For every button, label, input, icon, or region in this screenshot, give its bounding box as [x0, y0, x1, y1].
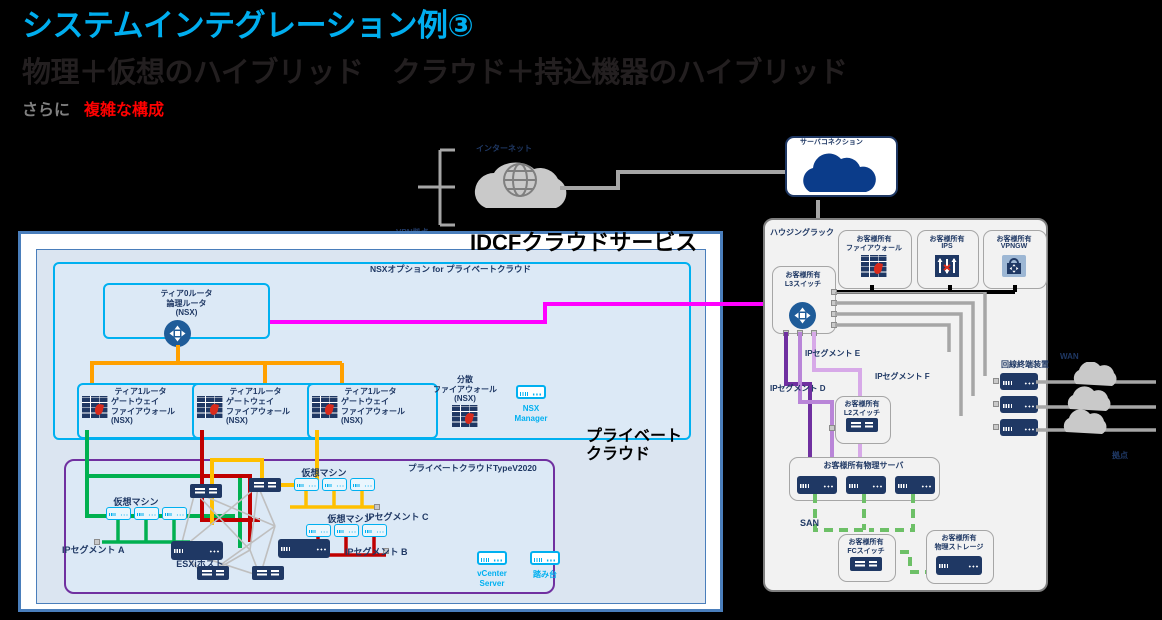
- vm-icon-c1: [294, 478, 319, 491]
- customer-l3switch-line2: L3スイッチ: [772, 279, 834, 289]
- esxi-host-icon-2: [278, 539, 330, 558]
- virtual-switch-icon-1: [190, 484, 222, 498]
- customer-vpngw-line2: VPNGW: [983, 243, 1045, 250]
- diagram-canvas: システムインテグレーション例③ 物理＋仮想のハイブリッド クラウド＋持込機器のハ…: [0, 0, 1162, 620]
- server-connection-cloud-icon: [800, 148, 884, 196]
- san-label: SAN: [800, 518, 850, 528]
- dsu-port-2: [993, 401, 999, 407]
- site-label: 拠点: [1112, 450, 1152, 461]
- esxi-host-label: ESXiホスト: [160, 557, 240, 570]
- bastion-server-icon: [530, 551, 560, 565]
- note-prefix: さらに: [22, 102, 70, 120]
- vcenter-server-icon: [477, 551, 507, 565]
- segment-label-a: IPセグメント A: [62, 543, 152, 556]
- dsu-icon-1: [1000, 373, 1038, 390]
- vm-icon-a3: [162, 507, 187, 520]
- customer-firewall-icon: [861, 255, 887, 277]
- vm-icon-a1: [106, 507, 131, 520]
- customer-fcswitch-line2: FCスイッチ: [838, 546, 894, 556]
- virtual-switch-icon-4: [252, 566, 284, 580]
- nsx-manager-line1: NSX: [496, 404, 566, 413]
- vm-icon-b2: [334, 524, 359, 537]
- virtual-switch-icon-2: [249, 478, 281, 492]
- dsu-port-3: [993, 424, 999, 430]
- customer-vpngw-icon: [1002, 255, 1026, 277]
- customer-ips-icon: [935, 255, 959, 277]
- tier0-product: (NSX): [103, 308, 270, 317]
- tier1-label3-2: (NSX): [226, 416, 316, 425]
- wan-label: WAN: [1060, 352, 1110, 361]
- customer-physical-servers-label: お客様所有物理サーバ: [789, 460, 938, 471]
- note-emphasis: 複雑な構成: [84, 102, 164, 120]
- internet-cloud-icon: [475, 163, 566, 208]
- tier1-label3-1: (NSX): [111, 416, 201, 425]
- tier0-to-l3switch-link: [180, 290, 790, 340]
- page-title: システムインテグレーション例③: [22, 8, 473, 44]
- nsx-manager-line2: Manager: [496, 414, 566, 423]
- l2-port: [829, 425, 835, 431]
- segment-label-e: IPセグメント E: [805, 348, 905, 359]
- vcenter-line2: Server: [457, 579, 527, 588]
- vm-icon-c3: [350, 478, 375, 491]
- customer-firewall-line2: ファイアウォール: [838, 243, 910, 253]
- internet-label: インターネット: [476, 144, 532, 153]
- vm-icon-c2: [322, 478, 347, 491]
- dsu-icon-2: [1000, 396, 1038, 413]
- distributed-fw-line3: (NSX): [425, 394, 505, 403]
- housing-rack-label: ハウジングラック: [770, 228, 834, 237]
- dsu-port-1: [993, 378, 999, 384]
- idcf-title: IDCFクラウドサービス: [470, 230, 697, 255]
- customer-l2switch-line2: L2スイッチ: [835, 408, 889, 418]
- private-cloud-side-label: プライベートクラウド: [586, 428, 682, 465]
- nsx-option-label: NSXオプション for プライベートクラウド: [370, 265, 531, 275]
- customer-storage-icon: [936, 556, 982, 575]
- vm-icon-b3: [362, 524, 387, 537]
- customer-ips-line2: IPS: [917, 243, 977, 250]
- tier0-router-icon: [164, 320, 191, 347]
- customer-l3switch-icon: [789, 302, 816, 329]
- tier1-firewall-icon-1: [82, 396, 108, 418]
- customer-fcswitch-icon: [850, 557, 882, 571]
- bastion-line1: 踏み台: [510, 569, 580, 580]
- segment-label-f: IPセグメント F: [875, 371, 975, 382]
- vm-icon-b1: [306, 524, 331, 537]
- dsu-icon-3: [1000, 419, 1038, 436]
- segment-label-d: IPセグメント D: [770, 383, 870, 394]
- segment-label-b: IPセグメント B: [345, 545, 435, 558]
- server-connection-label: サーバコネクション: [800, 139, 863, 147]
- vm-icon-a2: [134, 507, 159, 520]
- wan-clouds-graphic: [1036, 362, 1162, 452]
- page-subtitle: 物理＋仮想のハイブリッド クラウド＋持込機器のハイブリッド: [22, 57, 847, 90]
- distributed-firewall-icon: [452, 405, 478, 427]
- nsx-manager-server-icon: [516, 385, 546, 399]
- customer-storage-line2: 物理ストレージ: [926, 542, 992, 552]
- tier1-label3-3: (NSX): [341, 416, 431, 425]
- customer-l2switch-icon: [846, 418, 878, 432]
